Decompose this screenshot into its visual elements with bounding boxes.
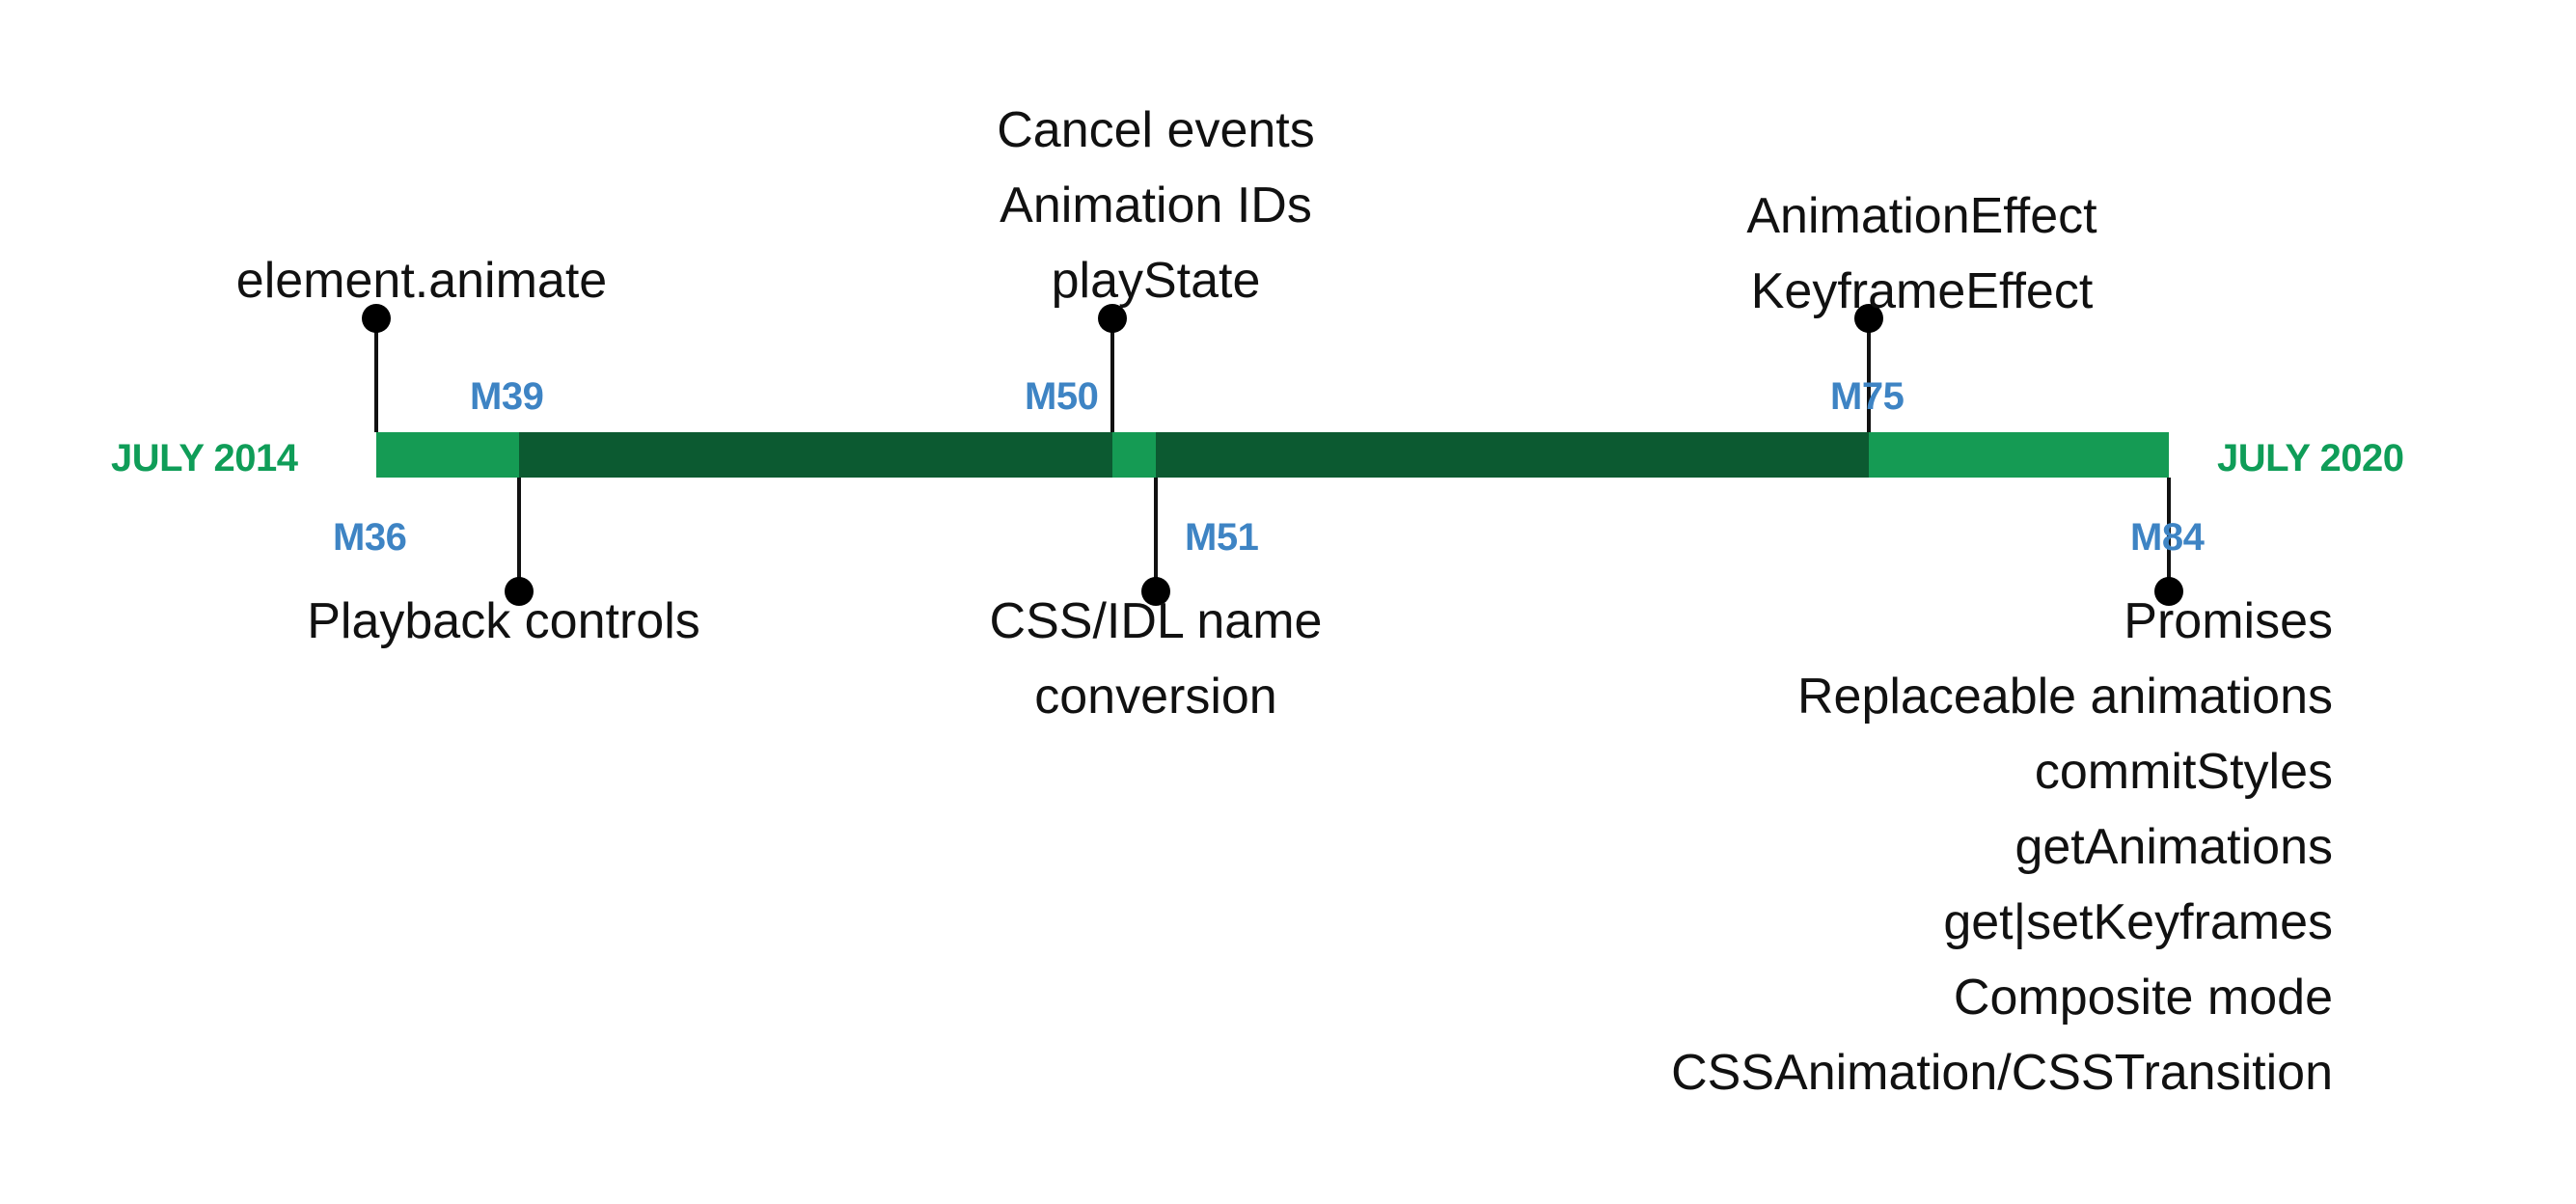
version-label-m84: M84 bbox=[2130, 516, 2204, 560]
feature-item: CSSAnimation/CSSTransition bbox=[1671, 1035, 2333, 1110]
version-label-m75: M75 bbox=[1830, 375, 1904, 419]
timeline-segment-m75-to-m84 bbox=[1869, 432, 2169, 478]
feature-list-m75: AnimationEffectKeyframeEffect bbox=[1746, 178, 2096, 329]
feature-item: CSS/IDL name bbox=[990, 584, 1323, 659]
timeline-segment-m36-to-m39 bbox=[376, 432, 519, 478]
feature-list-m39: element.animate bbox=[236, 243, 607, 318]
feature-item: get|setKeyframes bbox=[1671, 885, 2333, 960]
version-label-m39: M39 bbox=[470, 375, 543, 419]
version-label-m36: M36 bbox=[333, 516, 406, 560]
feature-item: Cancel events bbox=[997, 93, 1315, 168]
timeline-start-date-label: JULY 2014 bbox=[111, 439, 297, 478]
feature-item: KeyframeEffect bbox=[1746, 254, 2096, 329]
feature-item: playState bbox=[997, 243, 1315, 318]
feature-item: getAnimations bbox=[1671, 809, 2333, 885]
timeline-segment-m51-to-m75 bbox=[1156, 432, 1869, 478]
marker-stem-m39 bbox=[374, 318, 378, 432]
feature-item: AnimationEffect bbox=[1746, 178, 2096, 254]
feature-item: element.animate bbox=[236, 243, 607, 318]
marker-stem-m51 bbox=[1154, 478, 1158, 591]
feature-item: Playback controls bbox=[307, 584, 700, 659]
feature-item: commitStyles bbox=[1671, 734, 2333, 809]
timeline-diagram: JULY 2014 JULY 2020 M39element.animateM3… bbox=[0, 0, 2576, 1204]
timeline-segment-m39-to-m50 bbox=[519, 432, 1112, 478]
timeline-bar bbox=[376, 432, 2169, 478]
feature-list-m50: Cancel eventsAnimation IDsplayState bbox=[997, 93, 1315, 318]
feature-list-m84: PromisesReplaceable animationscommitStyl… bbox=[1671, 584, 2333, 1110]
feature-list-m36: Playback controls bbox=[307, 584, 700, 659]
feature-item: Animation IDs bbox=[997, 168, 1315, 243]
feature-list-m51: CSS/IDL nameconversion bbox=[990, 584, 1323, 734]
feature-item: Replaceable animations bbox=[1671, 659, 2333, 734]
timeline-segment-m50-to-m51 bbox=[1112, 432, 1156, 478]
marker-stem-m50 bbox=[1110, 318, 1114, 432]
feature-item: Promises bbox=[1671, 584, 2333, 659]
timeline-end-date-label: JULY 2020 bbox=[2217, 439, 2403, 478]
version-label-m50: M50 bbox=[1025, 375, 1098, 419]
feature-item: Composite mode bbox=[1671, 960, 2333, 1035]
feature-item: conversion bbox=[990, 659, 1323, 734]
version-label-m51: M51 bbox=[1185, 516, 1258, 560]
marker-stem-m36 bbox=[517, 478, 521, 591]
